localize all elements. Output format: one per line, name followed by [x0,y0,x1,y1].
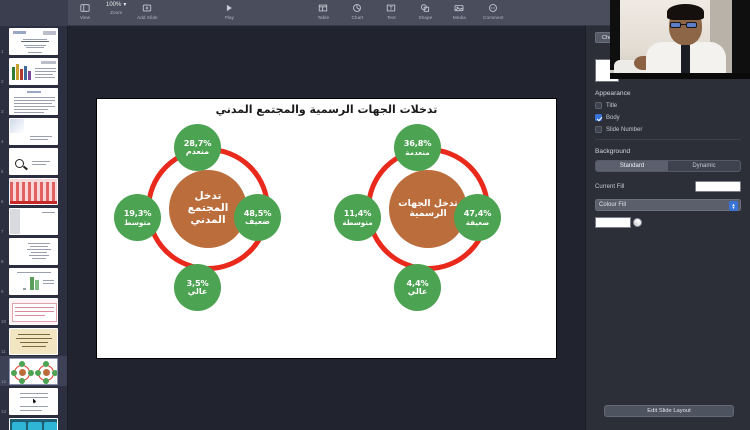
segment-standard[interactable]: Standard [596,161,668,171]
node-label: متوسط [124,219,151,227]
checkbox-title[interactable] [595,102,602,109]
slide-number-9: 9 [1,289,4,294]
zoom-label: Zoom [110,10,122,15]
thumbnail-image [9,178,58,205]
node-bottom[interactable]: 4,4% عالي [394,264,441,311]
checkbox-body-label: Body [606,115,620,121]
slide-number-1: 1 [1,49,4,54]
media-button[interactable]: Media [442,0,476,20]
toolbar-insert-group: Table Chart T Text Shape [306,0,510,26]
slide-thumbnail-14[interactable]: 14 [0,416,67,430]
thumbnail-image [9,208,58,235]
thumbnail-image [9,88,58,115]
thumbnail-image [9,148,58,175]
node-percent: 11,4% [344,209,371,218]
play-icon [224,2,235,13]
text-button[interactable]: T Text [374,0,408,20]
text-icon: T [386,2,397,13]
node-right[interactable]: 47,4% ضعيفة [454,194,501,241]
chevron-down-icon: ▾ [123,1,126,8]
node-left[interactable]: 19,3% متوسط [114,194,161,241]
slide-number-13: 13 [1,409,6,414]
add-slide-button[interactable]: Add Slide [130,0,164,20]
slide-number-3: 3 [1,109,4,114]
slide-navigator[interactable]: 1 2 [0,26,68,430]
current-fill-row: Current Fill [595,181,741,192]
slide-thumbnail-5[interactable]: 5 [0,146,67,176]
table-icon [318,2,329,13]
zoom-control[interactable]: 100% ▾ Zoom [102,0,130,15]
slide-thumbnail-4[interactable]: 4 [0,116,67,146]
webcam-glasses-bridge [681,24,686,25]
slide-thumbnail-8[interactable]: 8 [0,236,67,266]
thumbnail-image [9,388,58,415]
chart-button[interactable]: Chart [340,0,374,20]
node-top[interactable]: 36,8% منعدمة [394,124,441,171]
webcam-video-overlay[interactable] [610,0,750,79]
checkbox-title-label: Title [606,103,617,109]
checkbox-slide-number-label: Slide Number [606,127,642,133]
slide-thumbnail-11[interactable]: 11 [0,326,67,356]
comment-icon [488,2,499,13]
toolbar-left-group: View 100% ▾ Zoom Add Slide [68,0,164,26]
node-percent: 47,4% [464,209,491,218]
slide-thumbnail-3[interactable]: 3 [0,86,67,116]
node-label: ضعيفة [466,219,489,227]
appearance-option-slide-number[interactable]: Slide Number [595,126,741,133]
play-label: Play [225,15,234,20]
slide-number-7: 7 [1,229,4,234]
slide-thumbnail-7[interactable]: 7 [0,206,67,236]
toolbar-sidebar-spacer [0,0,68,26]
add-slide-label: Add Slide [137,15,158,20]
background-type-segmented-control[interactable]: Standard Dynamic [595,160,741,172]
slide-number-4: 4 [1,139,4,144]
node-percent: 36,8% [404,139,431,148]
chart-icon [352,2,363,13]
node-label: متوسطة [342,219,372,227]
webcam-hair [667,4,704,20]
thumbnail-image [9,238,58,265]
add-slide-icon [142,2,153,13]
slide-number-8: 8 [1,259,4,264]
node-percent: 3,5% [187,279,209,288]
comment-button[interactable]: Comment [476,0,510,20]
segment-dynamic[interactable]: Dynamic [668,161,740,171]
thumbnail-image [9,118,58,145]
node-percent: 28,7% [184,139,211,148]
node-label: عالي [188,288,208,296]
slide-number-12: 12 [1,379,6,384]
webcam-desk [610,73,750,79]
checkbox-body[interactable] [595,114,602,121]
view-icon [80,2,91,13]
fill-color-well[interactable] [595,217,631,228]
inspector-divider [595,139,741,140]
node-percent: 4,4% [407,279,429,288]
zoom-value: 100% [106,2,121,8]
thumbnail-image [9,268,58,295]
current-slide[interactable]: تدخلات الجهات الرسمية والمجتمع المدني تد… [97,99,556,358]
chevron-updown-icon: ▲▼ [729,201,738,211]
node-right[interactable]: 48,5% ضعيف [234,194,281,241]
node-percent: 19,3% [124,209,151,218]
format-inspector[interactable]: Choose... Appearance Title Body Slide Nu… [585,26,750,430]
table-label: Table [318,15,329,20]
slide-thumbnail-10[interactable]: 10 [0,296,67,326]
checkbox-slide-number[interactable] [595,126,602,133]
fill-type-select[interactable]: Colour Fill ▲▼ [595,199,741,211]
node-label: عالي [408,288,428,296]
slide-canvas[interactable]: تدخلات الجهات الرسمية والمجتمع المدني تد… [68,26,585,430]
slide-title: تدخلات الجهات الرسمية والمجتمع المدني [97,103,556,116]
appearance-option-title[interactable]: Title [595,102,741,109]
node-top[interactable]: 28,7% منعدم [174,124,221,171]
slide-thumbnail-12[interactable]: 12 [0,356,67,386]
slide-thumbnail-1[interactable]: 1 [0,26,67,56]
edit-slide-layout-button[interactable]: Edit Slide Layout [604,405,734,417]
diagram-official-bodies[interactable]: تدخل الجهات الرسمية 36,8% منعدمة 47,4% ض… [333,121,523,336]
slide-thumbnail-9[interactable]: 9 [0,266,67,296]
node-percent: 48,5% [244,209,271,218]
diagram-civil-society[interactable]: تدخل المجتمع المدني 28,7% منعدم 48,5% ضع… [113,121,303,336]
node-left[interactable]: 11,4% متوسطة [334,194,381,241]
chart-label: Chart [352,15,364,20]
slide-thumbnail-2[interactable]: 2 [0,56,67,86]
table-button[interactable]: Table [306,0,340,20]
appearance-section-title: Appearance [595,90,741,97]
color-wheel-icon[interactable] [633,218,642,227]
thumbnail-image [9,418,58,430]
node-label: منعدمة [405,149,429,157]
shape-button[interactable]: Shape [408,0,442,20]
thumbnail-image [9,58,58,85]
background-section-title: Background [595,148,741,155]
view-label: View [80,15,90,20]
slide-number-2: 2 [1,79,4,84]
shape-label: Shape [418,15,432,20]
slide-thumbnail-6[interactable]: 6 [0,176,67,206]
webcam-glasses-left [670,22,681,28]
fill-type-value: Colour Fill [599,202,626,208]
fill-color-row [595,217,741,228]
comment-label: Comment [483,15,504,20]
current-fill-label: Current Fill [595,184,695,190]
appearance-option-body[interactable]: Body [595,114,741,121]
slide-number-6: 6 [1,199,4,204]
shape-icon [420,2,431,13]
thumbnail-image [9,28,58,55]
zoom-value-wrap: 100% ▾ [106,1,126,8]
thumbnail-image [9,358,58,385]
current-fill-swatch[interactable] [695,181,741,192]
webcam-glasses-right [686,22,697,28]
slide-number-5: 5 [1,169,4,174]
node-label: منعدم [186,148,209,156]
media-label: Media [453,15,466,20]
node-label: ضعيف [245,218,270,226]
keynote-window: View 100% ▾ Zoom Add Slide Play [0,0,750,430]
media-icon [454,2,465,13]
thumbnail-image [9,298,58,325]
slide-thumbnail-13[interactable]: 13 [0,386,67,416]
slide-number-10: 10 [1,319,6,324]
thumbnail-image [9,328,58,355]
slide-number-11: 11 [1,349,6,354]
play-button[interactable]: Play [212,0,246,20]
view-button[interactable]: View [68,0,102,20]
text-label: Text [387,15,396,20]
node-bottom[interactable]: 3,5% عالي [174,264,221,311]
